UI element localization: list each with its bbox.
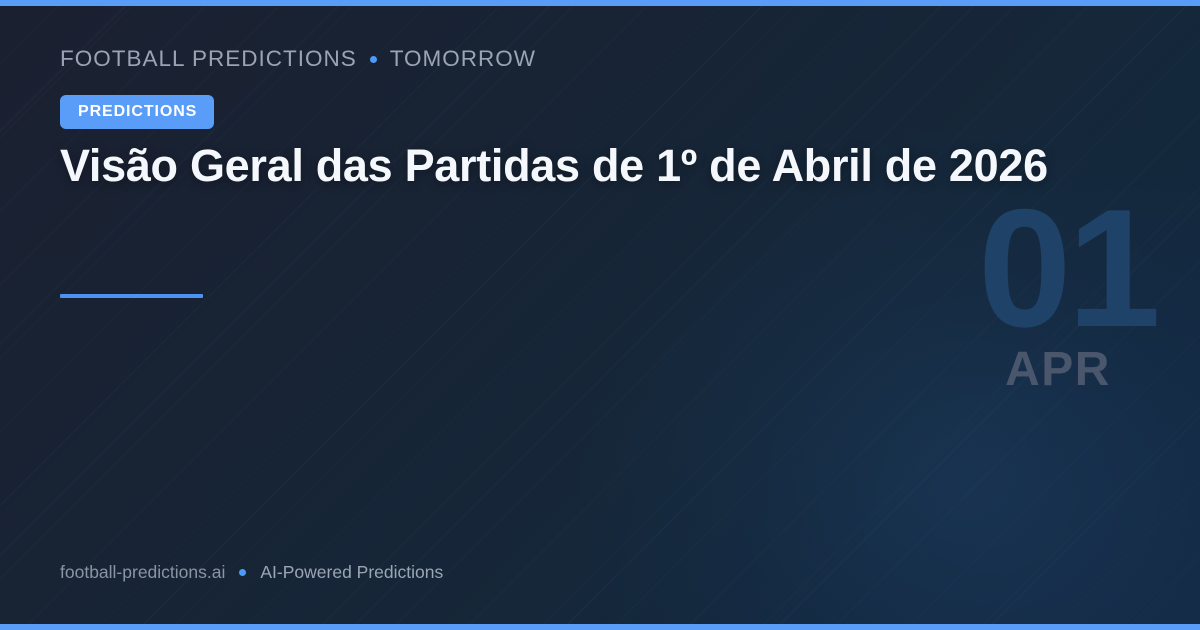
title-underline-accent [60,294,203,298]
footer-tagline: AI-Powered Predictions [260,562,443,583]
footer-site: football-predictions.ai [60,562,225,583]
bottom-accent-bar [0,624,1200,630]
eyebrow-category: FOOTBALL PREDICTIONS [60,46,357,72]
date-block: 01 APR [978,196,1138,394]
status-badge: PREDICTIONS [60,95,214,129]
eyebrow-timeframe: TOMORROW [390,46,536,72]
top-accent-bar [0,0,1200,6]
eyebrow: FOOTBALL PREDICTIONS TOMORROW [60,46,536,72]
footer: football-predictions.ai AI-Powered Predi… [60,562,443,583]
bullet-dot-icon [370,56,377,63]
bullet-dot-icon [239,569,246,576]
date-day: 01 [978,196,1138,340]
page-title: Visão Geral das Partidas de 1º de Abril … [60,140,1060,192]
share-card: FOOTBALL PREDICTIONS TOMORROW PREDICTION… [0,0,1200,630]
